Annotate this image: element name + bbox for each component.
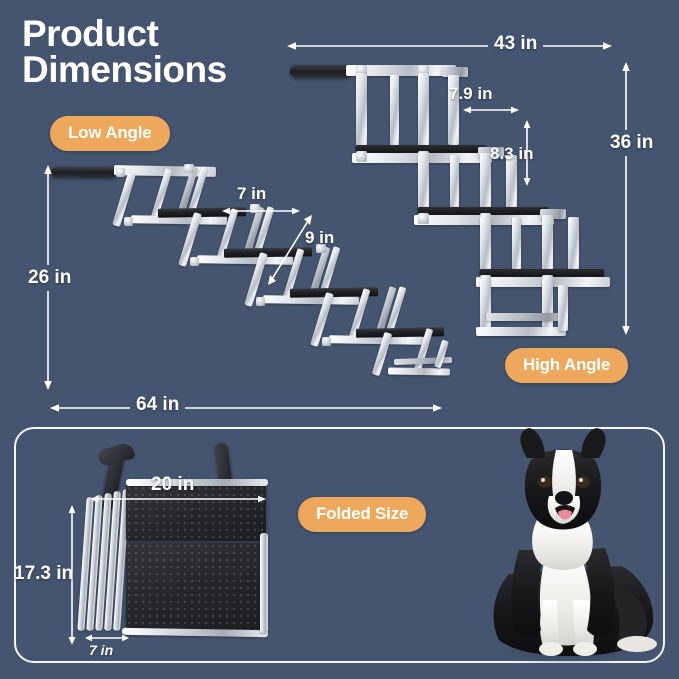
stair-base-frame: [558, 285, 568, 331]
grip-handle: [51, 167, 117, 179]
dog-nose: [555, 491, 573, 505]
dimension-label-8-3in: 8.3 in: [490, 144, 533, 164]
dimension-label-7-9in: 7.9 in: [449, 84, 492, 104]
dimension-arrow-36in: [619, 62, 637, 335]
dog-rear-paw: [617, 636, 657, 652]
stair-post: [512, 217, 521, 275]
stair-base-frame: [486, 313, 568, 321]
ladder-joint: [184, 164, 194, 173]
badge-folded-size: Folded Size: [298, 497, 426, 532]
dimension-label-64in: 64 in: [130, 392, 185, 418]
dog-paw-left: [539, 642, 563, 656]
dog-ear-right: [581, 428, 606, 458]
ladder-joint: [356, 151, 367, 162]
dog-front-leg-left: [540, 600, 559, 646]
dog-eye-right: [576, 476, 590, 488]
ladder-joint: [256, 297, 265, 306]
folded-side-rail: [260, 533, 268, 633]
badge-high-angle: High Angle: [505, 348, 628, 383]
dimension-label-7in-folded: 7 in: [89, 642, 113, 658]
dimension-arrow-64in: [50, 400, 442, 416]
infographic-canvas: Product Dimensions Low Angle: [0, 0, 679, 679]
dog-paw-right: [573, 642, 597, 656]
folded-top-edge: [126, 479, 268, 486]
dimension-label-26in: 26 in: [24, 265, 75, 291]
grip-handle: [290, 65, 352, 78]
dimension-label-36in: 36 in: [606, 130, 657, 156]
dimension-label-20in: 20 in: [151, 474, 194, 496]
page-title: Product Dimensions: [22, 16, 227, 89]
dog-eye-glint-right: [579, 478, 583, 482]
ladder-joint: [190, 257, 199, 266]
dog-ear-left: [520, 428, 545, 458]
ladder-joint: [418, 213, 429, 224]
dog-photo: [455, 424, 679, 664]
dog-eye-left: [538, 476, 552, 488]
dimension-arrow-43in: [287, 38, 612, 54]
stair-post: [356, 73, 367, 151]
dimension-label-17-3in: 17.3 in: [14, 563, 73, 585]
stair-post: [542, 215, 553, 277]
ladder-joint: [124, 217, 133, 226]
badge-low-angle: Low Angle: [50, 116, 170, 151]
folded-bottom-edge: [122, 628, 268, 638]
stair-base-frame: [476, 327, 566, 336]
dimension-label-7in-low: 7 in: [237, 184, 266, 204]
dog-eye-glint-left: [541, 478, 545, 482]
folded-tread-stack-upper: [126, 485, 266, 541]
stair-post: [390, 75, 399, 147]
stair-post: [418, 73, 429, 153]
ladder-joint: [116, 168, 125, 177]
stair-post: [568, 217, 579, 273]
stair-post: [450, 155, 459, 213]
ladder-joint: [250, 204, 260, 213]
ladder-foot-frame: [388, 367, 450, 375]
dimension-label-43in: 43 in: [488, 31, 543, 57]
folded-tread-stack-lower: [126, 543, 262, 631]
